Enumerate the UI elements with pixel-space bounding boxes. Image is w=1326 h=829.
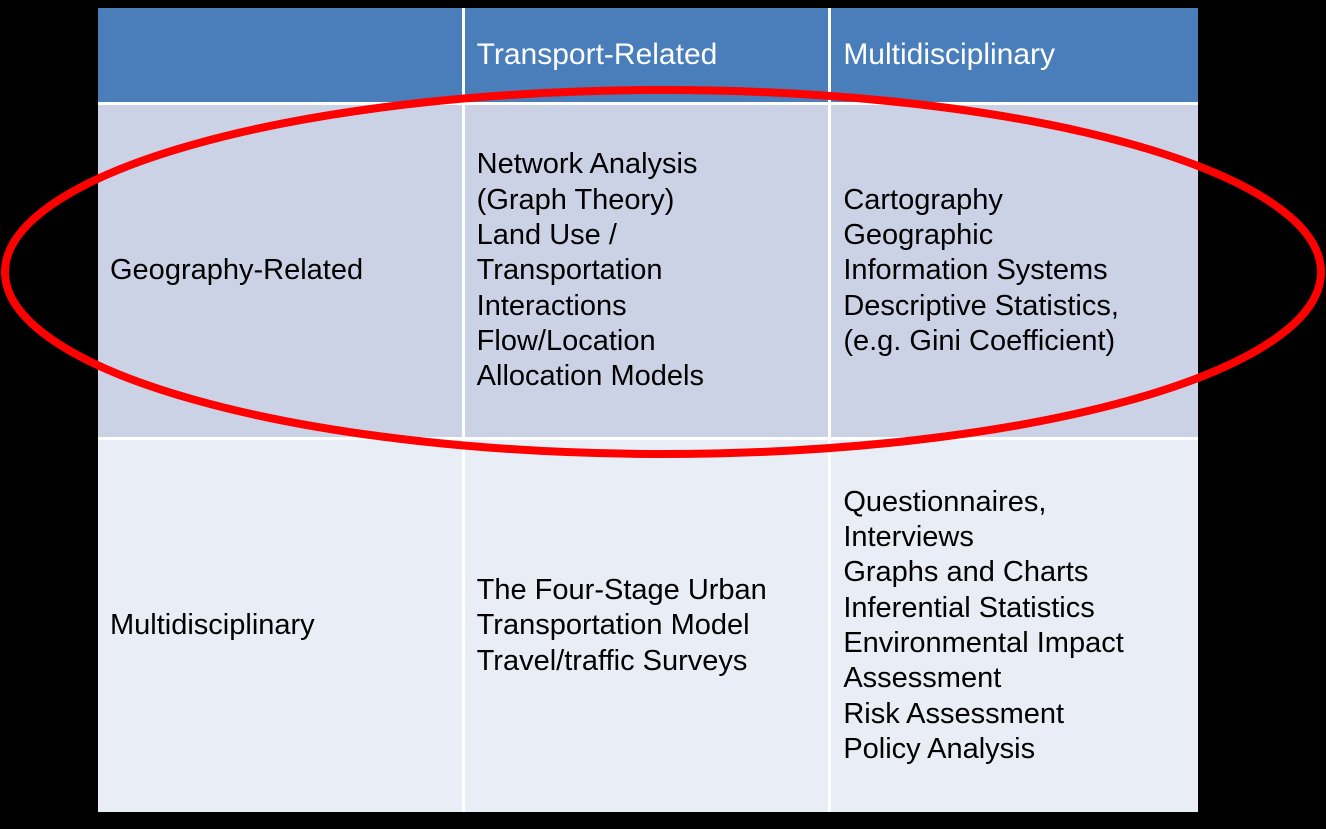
- table-body: Geography-Related Network Analysis (Grap…: [98, 102, 1198, 812]
- table-header: Transport-Related Multidisciplinary: [98, 8, 1198, 102]
- header-row: Transport-Related Multidisciplinary: [98, 8, 1198, 102]
- cell-multidisciplinary-transport: The Four-Stage Urban Transportation Mode…: [465, 437, 832, 812]
- methods-matrix-table: Transport-Related Multidisciplinary Geog…: [98, 8, 1198, 812]
- row-label-text: Multidisciplinary: [110, 608, 462, 643]
- header-cell-multidisciplinary: Multidisciplinary: [831, 8, 1198, 102]
- row-label-text: Geography-Related: [110, 253, 462, 288]
- table-row: Multidisciplinary The Four-Stage Urban T…: [98, 437, 1198, 812]
- cell-text: Questionnaires, Interviews Graphs and Ch…: [843, 485, 1198, 768]
- cell-text: Network Analysis (Graph Theory) Land Use…: [477, 147, 829, 395]
- header-cell-corner: [98, 8, 465, 102]
- header-cell-transport-related: Transport-Related: [465, 8, 832, 102]
- cell-text: The Four-Stage Urban Transportation Mode…: [477, 573, 829, 679]
- cell-multidisciplinary-multidisciplinary: Questionnaires, Interviews Graphs and Ch…: [831, 437, 1198, 812]
- cell-geography-transport: Network Analysis (Graph Theory) Land Use…: [465, 102, 832, 437]
- table-row: Geography-Related Network Analysis (Grap…: [98, 102, 1198, 437]
- row-label-multidisciplinary: Multidisciplinary: [98, 437, 465, 812]
- cell-geography-multidisciplinary: Cartography Geographic Information Syste…: [831, 102, 1198, 437]
- cell-text: Cartography Geographic Information Syste…: [843, 183, 1198, 360]
- row-label-geography-related: Geography-Related: [98, 102, 465, 437]
- slide-canvas: Transport-Related Multidisciplinary Geog…: [0, 0, 1326, 829]
